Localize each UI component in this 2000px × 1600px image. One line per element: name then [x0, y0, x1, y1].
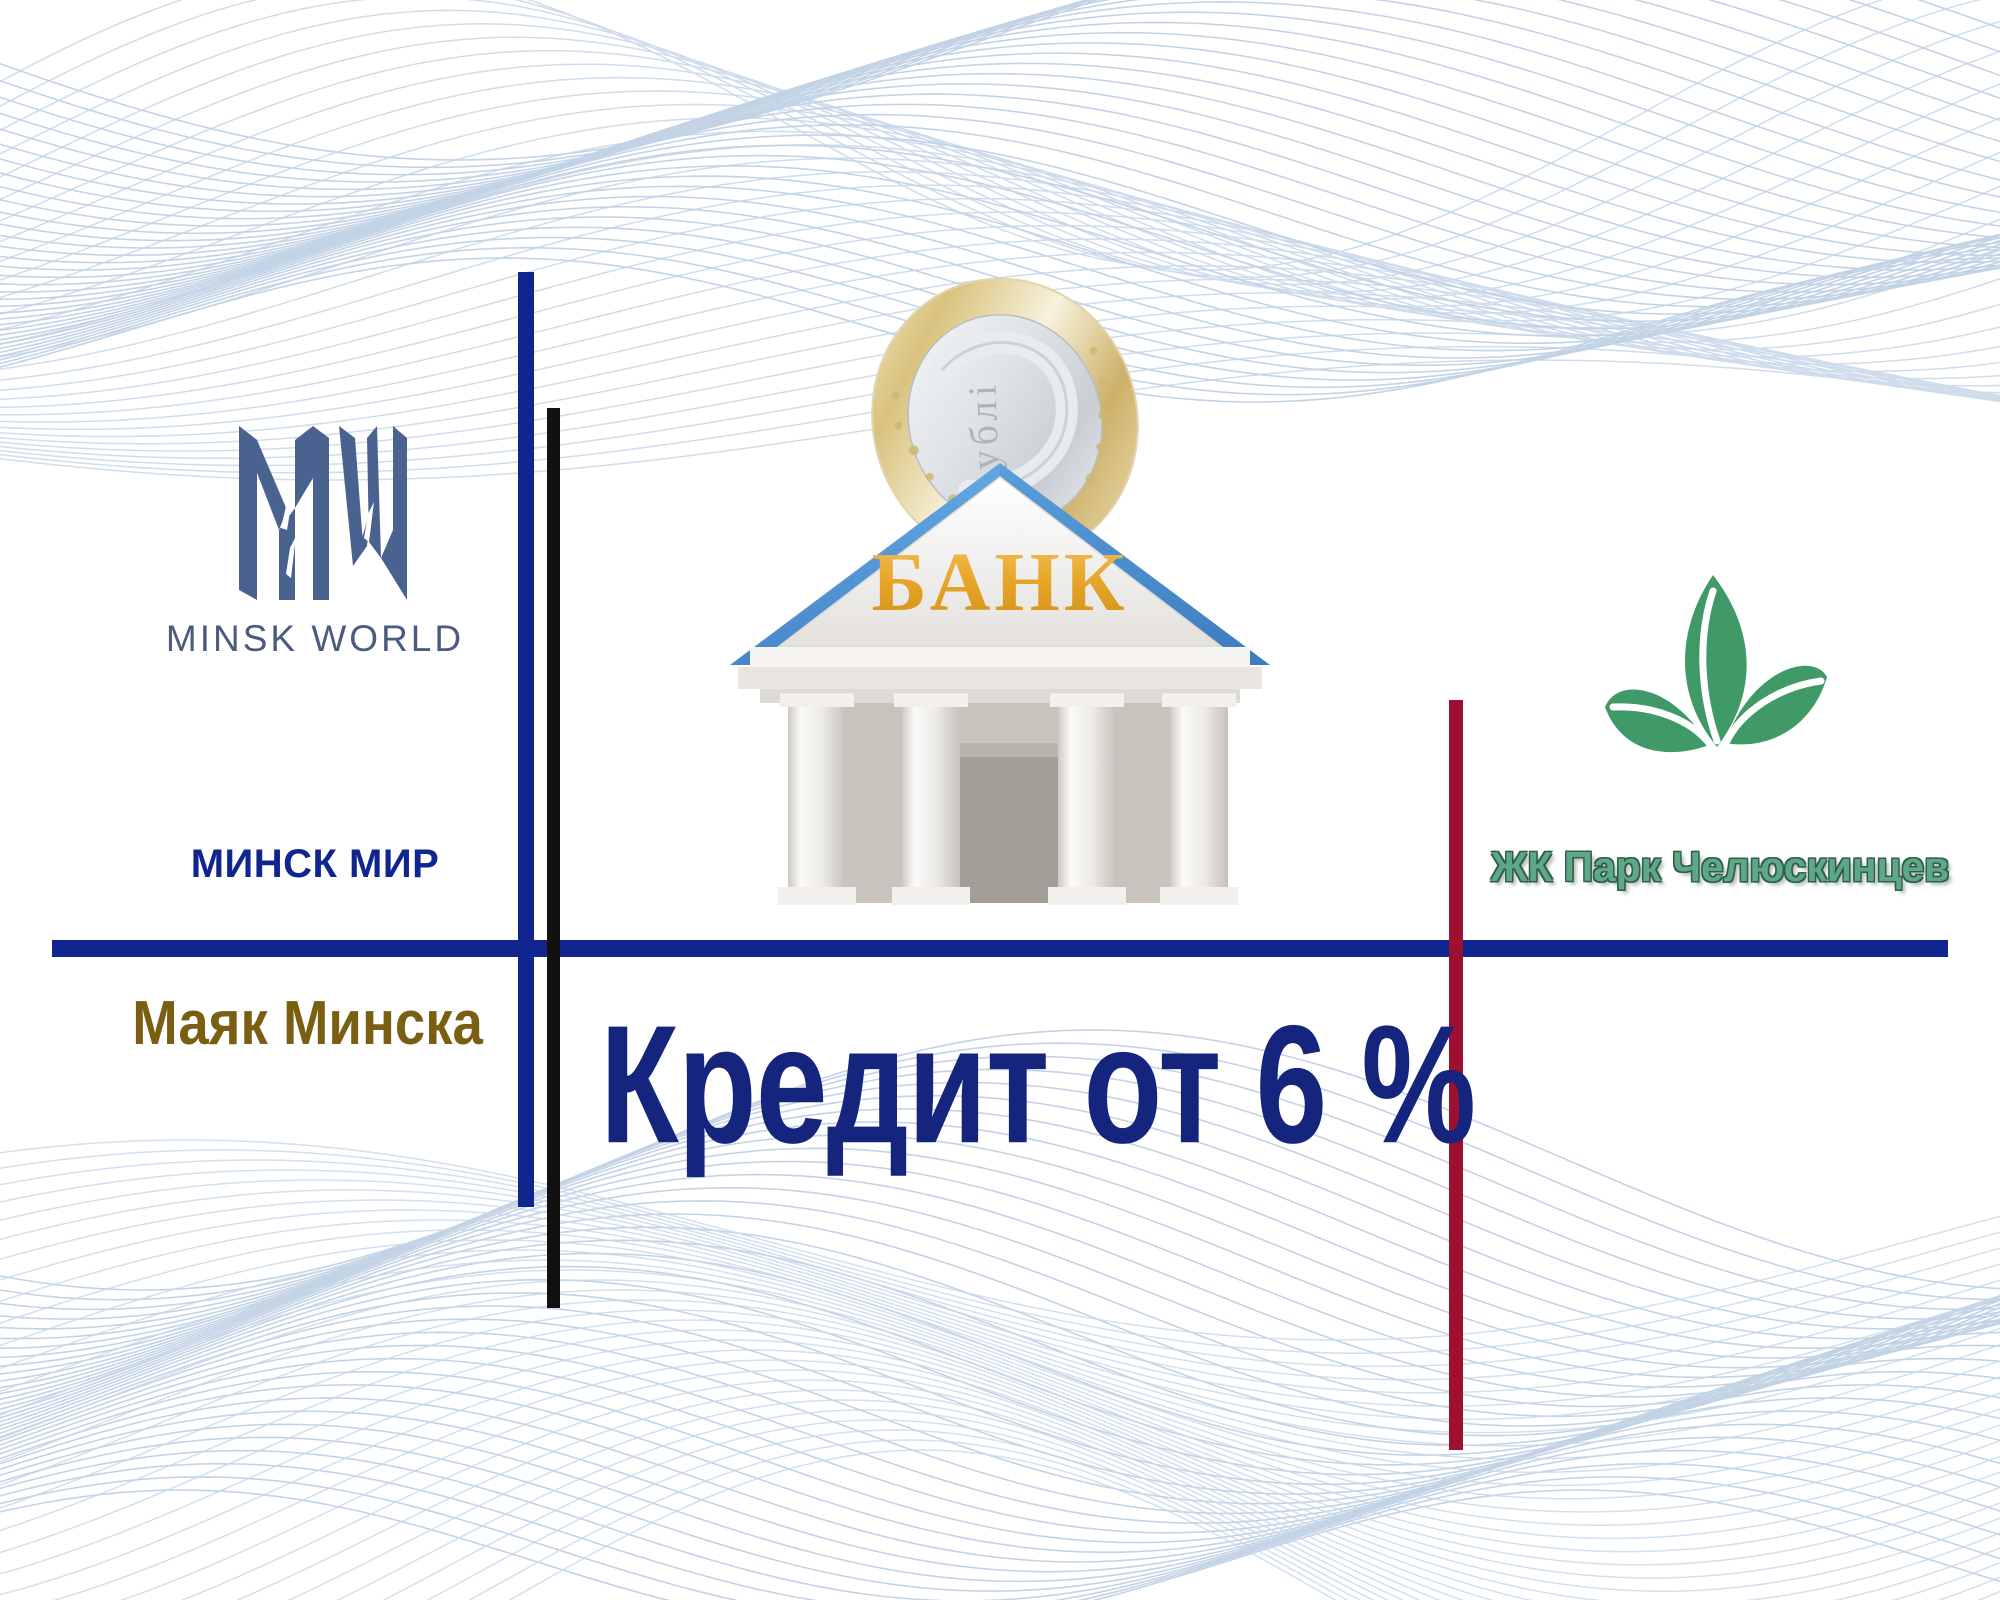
- green-leaves-logo: [1575, 565, 1865, 800]
- mayak-minska-label: Маяк Минска: [132, 988, 458, 1059]
- minsk-mir-label: МИНСК МИР: [150, 842, 480, 887]
- minsk-world-logo-block: MINSK WORLD: [150, 418, 480, 660]
- vertical-black-rule: [547, 408, 560, 1308]
- bank-building-with-coin: рублі БАНК: [700, 265, 1320, 905]
- park-chelyuskintsev-logo-block: [1500, 565, 1940, 805]
- mw-monogram-logo: [217, 418, 413, 608]
- vertical-blue-rule: [518, 272, 534, 1207]
- headline-credit-rate: Кредит от 6 %: [600, 1000, 1322, 1168]
- bank-signboard-text: БАНК: [871, 536, 1128, 629]
- bank-doorway: [948, 753, 1060, 903]
- minsk-world-wordmark: MINSK WORLD: [150, 618, 480, 660]
- credit-offer-poster: MINSK WORLD МИНСК МИР Маяк Минска: [0, 0, 2000, 1600]
- park-chelyuskintsev-label: ЖК Парк Челюскинцев: [1487, 843, 1953, 891]
- horizontal-blue-rule: [52, 940, 1948, 957]
